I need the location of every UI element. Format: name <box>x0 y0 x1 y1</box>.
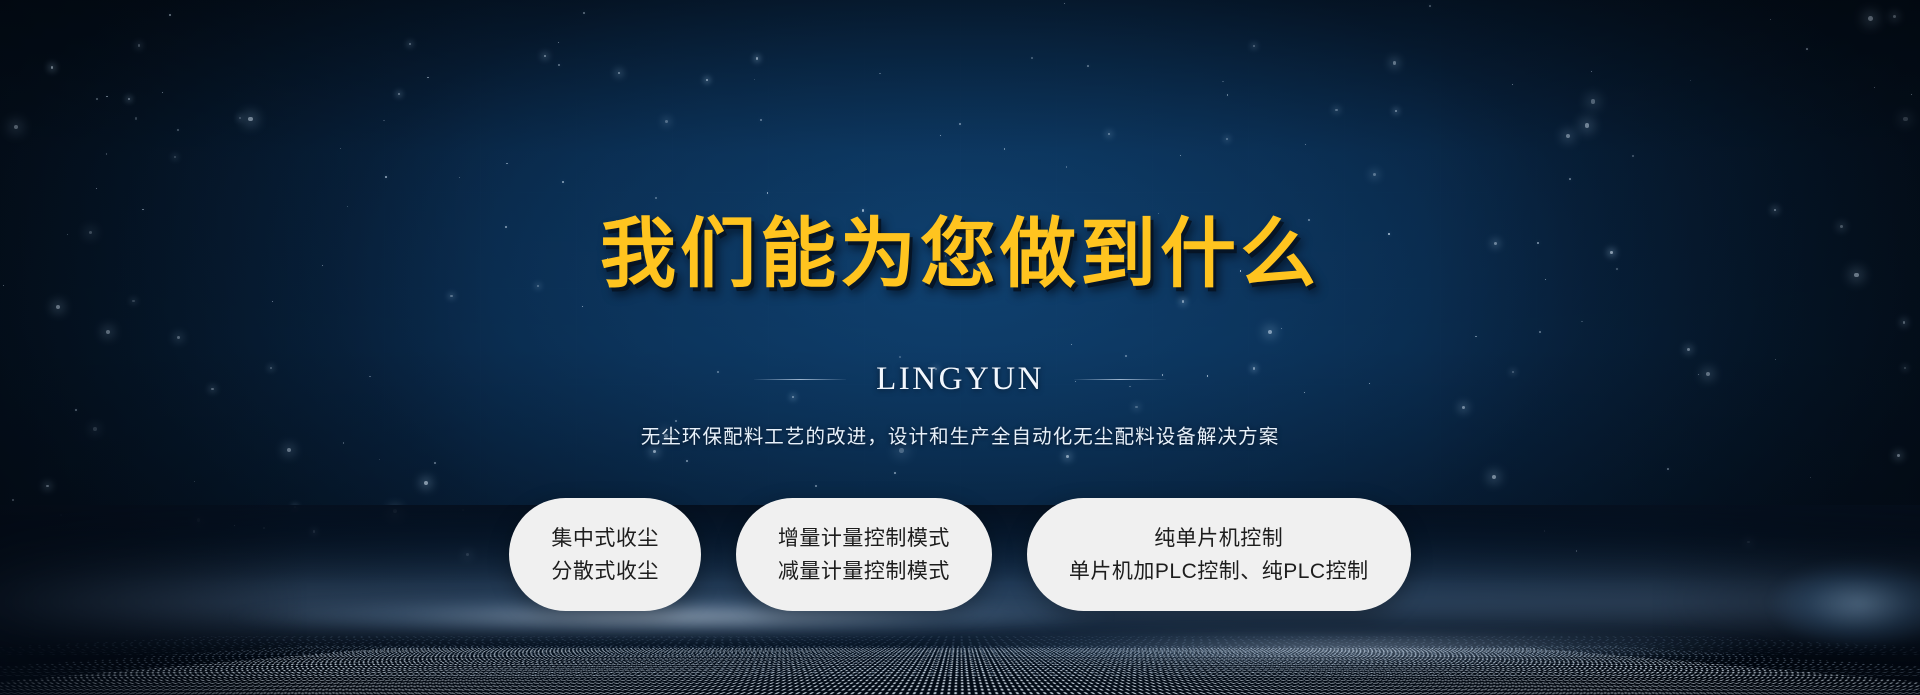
feature-card-control-system[interactable]: 纯单片机控制 单片机加PLC控制、纯PLC控制 <box>1027 498 1411 611</box>
card-line-1: 集中式收尘 <box>551 528 659 549</box>
card-line-2: 减量计量控制模式 <box>778 561 950 582</box>
card-line-1: 增量计量控制模式 <box>778 528 950 549</box>
banner-content: 我们能为您做到什么 LINGYUN 无尘环保配料工艺的改进，设计和生产全自动化无… <box>0 0 1920 695</box>
card-line-2: 单片机加PLC控制、纯PLC控制 <box>1069 561 1369 582</box>
subtitle: 无尘环保配料工艺的改进，设计和生产全自动化无尘配料设备解决方案 <box>641 420 1280 449</box>
card-line-2: 分散式收尘 <box>551 561 659 582</box>
brand-name: LINGYUN <box>876 361 1044 398</box>
page-title: 我们能为您做到什么 <box>600 216 1320 292</box>
divider-line-left <box>754 379 846 380</box>
brand-divider-row: LINGYUN <box>754 361 1166 398</box>
hero-banner: 我们能为您做到什么 LINGYUN 无尘环保配料工艺的改进，设计和生产全自动化无… <box>0 0 1920 695</box>
divider-line-right <box>1074 379 1166 380</box>
feature-card-list: 集中式收尘 分散式收尘 增量计量控制模式 减量计量控制模式 纯单片机控制 单片机… <box>509 498 1410 611</box>
card-line-1: 纯单片机控制 <box>1154 528 1283 549</box>
feature-card-metering-mode[interactable]: 增量计量控制模式 减量计量控制模式 <box>736 498 992 611</box>
feature-card-dust-collection[interactable]: 集中式收尘 分散式收尘 <box>509 498 701 611</box>
